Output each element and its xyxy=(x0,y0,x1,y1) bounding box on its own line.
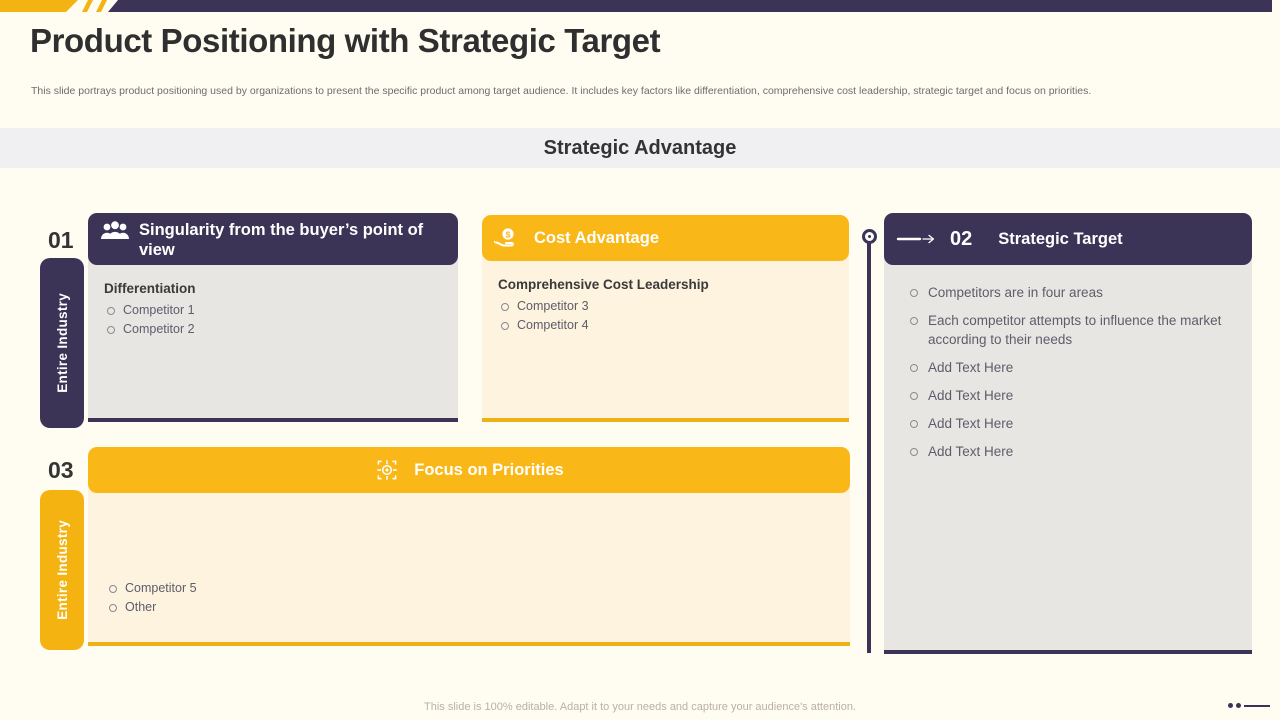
list-item: Add Text Here xyxy=(906,358,1234,377)
card-focus-priorities-heading: Focus on Priorities xyxy=(414,460,563,480)
card-singularity-list: Competitor 1 Competitor 2 xyxy=(104,301,442,338)
corner-decoration xyxy=(1228,703,1270,708)
corner-line xyxy=(1244,705,1270,707)
card-cost-advantage-body-title: Comprehensive Cost Leadership xyxy=(498,277,833,292)
timeline-connector-dot xyxy=(862,229,877,244)
card-number-03: 03 xyxy=(48,457,74,484)
list-item: Add Text Here xyxy=(906,442,1234,461)
topbar-yellow-tick-2 xyxy=(96,0,107,12)
target-crosshair-icon xyxy=(374,457,400,483)
list-item: Competitor 5 xyxy=(106,579,834,597)
card-singularity-body-title: Differentiation xyxy=(104,281,442,296)
card-strategic-target-heading: Strategic Target xyxy=(998,229,1122,249)
hand-holding-dollar-icon: $ xyxy=(494,226,522,250)
entire-industry-tab-left-top: Entire Industry xyxy=(40,258,84,428)
strategic-advantage-label: Strategic Advantage xyxy=(544,137,737,160)
list-item: Other xyxy=(106,598,834,616)
corner-dot-2 xyxy=(1236,703,1241,708)
arrow-right-icon xyxy=(896,232,938,246)
card-focus-priorities-body: Competitor 5 Other xyxy=(88,487,850,646)
card-strategic-target-body: Competitors are in four areas Each compe… xyxy=(884,259,1252,654)
entire-industry-tab-left-bottom: Entire Industry xyxy=(40,490,84,650)
card-focus-priorities[interactable]: Focus on Priorities Competitor 5 Other xyxy=(88,447,850,646)
card-focus-priorities-list: Competitor 5 Other xyxy=(106,579,834,616)
card-singularity-header: Singularity from the buyer’s point of vi… xyxy=(88,213,458,265)
card-cost-advantage-heading: Cost Advantage xyxy=(534,228,659,248)
list-item: Competitor 1 xyxy=(104,301,442,319)
list-item: Add Text Here xyxy=(906,414,1234,433)
people-group-icon xyxy=(100,220,130,244)
card-cost-advantage-body: Comprehensive Cost Leadership Competitor… xyxy=(482,255,849,422)
card-strategic-target-header: 02 Strategic Target xyxy=(884,213,1252,265)
svg-text:$: $ xyxy=(506,230,511,240)
topbar-yellow-tick-1 xyxy=(82,0,93,12)
list-item: Competitor 3 xyxy=(498,297,833,315)
card-cost-advantage[interactable]: $ Cost Advantage Comprehensive Cost Lead… xyxy=(482,215,849,422)
card-focus-priorities-header: Focus on Priorities xyxy=(88,447,850,493)
slide-root: Product Positioning with Strategic Targe… xyxy=(0,0,1280,720)
strategic-advantage-band: Strategic Advantage xyxy=(0,128,1280,168)
card-singularity-heading: Singularity from the buyer’s point of vi… xyxy=(139,220,448,260)
card-singularity-body: Differentiation Competitor 1 Competitor … xyxy=(88,259,458,422)
card-singularity[interactable]: Singularity from the buyer’s point of vi… xyxy=(88,213,458,422)
list-item: Competitor 4 xyxy=(498,316,833,334)
timeline-connector-line xyxy=(867,243,871,653)
card-number-01: 01 xyxy=(48,227,74,254)
list-item: Competitor 2 xyxy=(104,320,442,338)
page-title: Product Positioning with Strategic Targe… xyxy=(30,22,660,60)
card-cost-advantage-header: $ Cost Advantage xyxy=(482,215,849,261)
list-item: Each competitor attempts to influence th… xyxy=(906,311,1234,349)
card-number-02: 02 xyxy=(950,228,972,251)
footer-note: This slide is 100% editable. Adapt it to… xyxy=(0,701,1280,713)
card-strategic-target-list: Competitors are in four areas Each compe… xyxy=(906,283,1234,461)
entire-industry-tab-label: Entire Industry xyxy=(55,520,70,620)
top-decorative-bar xyxy=(0,0,1280,12)
card-strategic-target[interactable]: 02 Strategic Target Competitors are in f… xyxy=(884,213,1252,654)
entire-industry-tab-label: Entire Industry xyxy=(55,293,70,393)
card-cost-advantage-list: Competitor 3 Competitor 4 xyxy=(498,297,833,334)
topbar-yellow-segment xyxy=(0,0,78,12)
topbar-navy-segment xyxy=(108,0,1272,12)
page-subtitle: This slide portrays product positioning … xyxy=(31,84,1249,98)
list-item: Add Text Here xyxy=(906,386,1234,405)
list-item: Competitors are in four areas xyxy=(906,283,1234,302)
corner-dot-1 xyxy=(1228,703,1233,708)
